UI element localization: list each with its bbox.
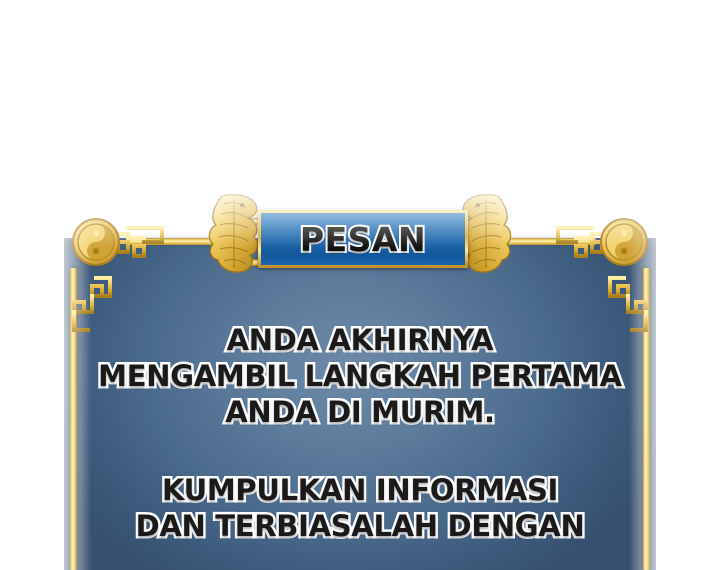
yin-yang-icon [599,217,649,267]
body-line: KUMPULKAN INFORMASI [78,472,642,508]
yin-yang-icon [71,217,121,267]
paragraph-intro: ANDA AKHIRNYA MENGAMBIL LANGKAH PERTAMA … [78,322,642,430]
dialog-title-banner: PESAN [258,210,468,268]
message-dialog-screen: PESAN ANDA AKHIRNYA MENGAMBIL LANGKAH PE… [0,0,720,570]
paragraph-instruction: KUMPULKAN INFORMASI DAN TERBIASALAH DENG… [78,472,642,544]
body-line: MENGAMBIL LANGKAH PERTAMA [78,358,642,394]
dialog-body: ANDA AKHIRNYA MENGAMBIL LANGKAH PERTAMA … [78,322,642,544]
dragon-icon [204,192,266,281]
page-title: PESAN [300,220,426,259]
body-line: ANDA AKHIRNYA [78,322,642,358]
body-line: DAN TERBIASALAH DENGAN [78,508,642,544]
body-line: ANDA DI MURIM. [78,394,642,430]
